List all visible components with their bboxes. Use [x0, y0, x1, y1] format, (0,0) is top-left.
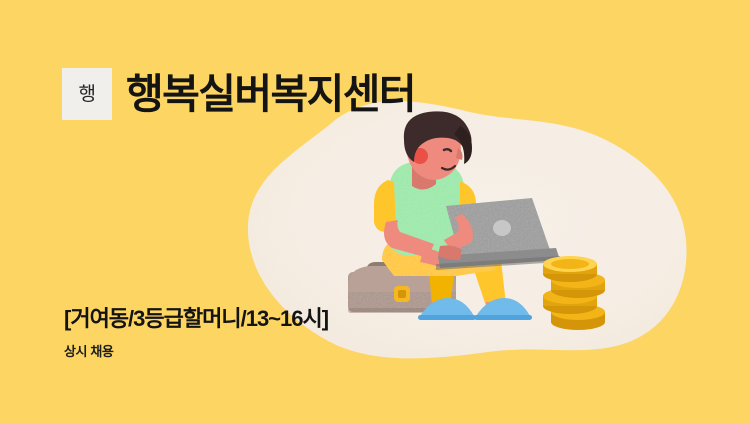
arm-left	[384, 220, 448, 268]
brand-badge: 행	[62, 68, 112, 120]
page-title: 행복실버복지센터	[126, 74, 415, 115]
blush-icon	[412, 148, 428, 164]
shoe-front	[474, 298, 532, 320]
hips-thigh	[382, 236, 496, 276]
head	[406, 118, 463, 190]
job-posting-headline: [거여동/3등급할머니/13~16시]	[64, 305, 328, 333]
leg-front	[468, 252, 506, 312]
poster-canvas: 행 행복실버복지센터 [거여동/3등급할머니/13~16시] 상시 채용	[0, 0, 750, 423]
laptop-icon	[436, 198, 560, 270]
leg-back	[428, 258, 456, 312]
arm-right	[438, 214, 473, 260]
caption-block: [거여동/3등급할머니/13~16시] 상시 채용	[64, 305, 328, 359]
brand-header: 행 행복실버복지센터	[62, 68, 415, 120]
torso-shirt	[374, 162, 476, 256]
briefcase-icon	[348, 264, 456, 313]
job-posting-status: 상시 채용	[64, 344, 328, 360]
shoe-back	[418, 298, 476, 320]
coin-stack-icon	[543, 256, 605, 330]
brand-badge-glyph: 행	[79, 85, 96, 104]
illustration-person-laptop	[320, 110, 650, 360]
background-blob	[0, 0, 750, 423]
